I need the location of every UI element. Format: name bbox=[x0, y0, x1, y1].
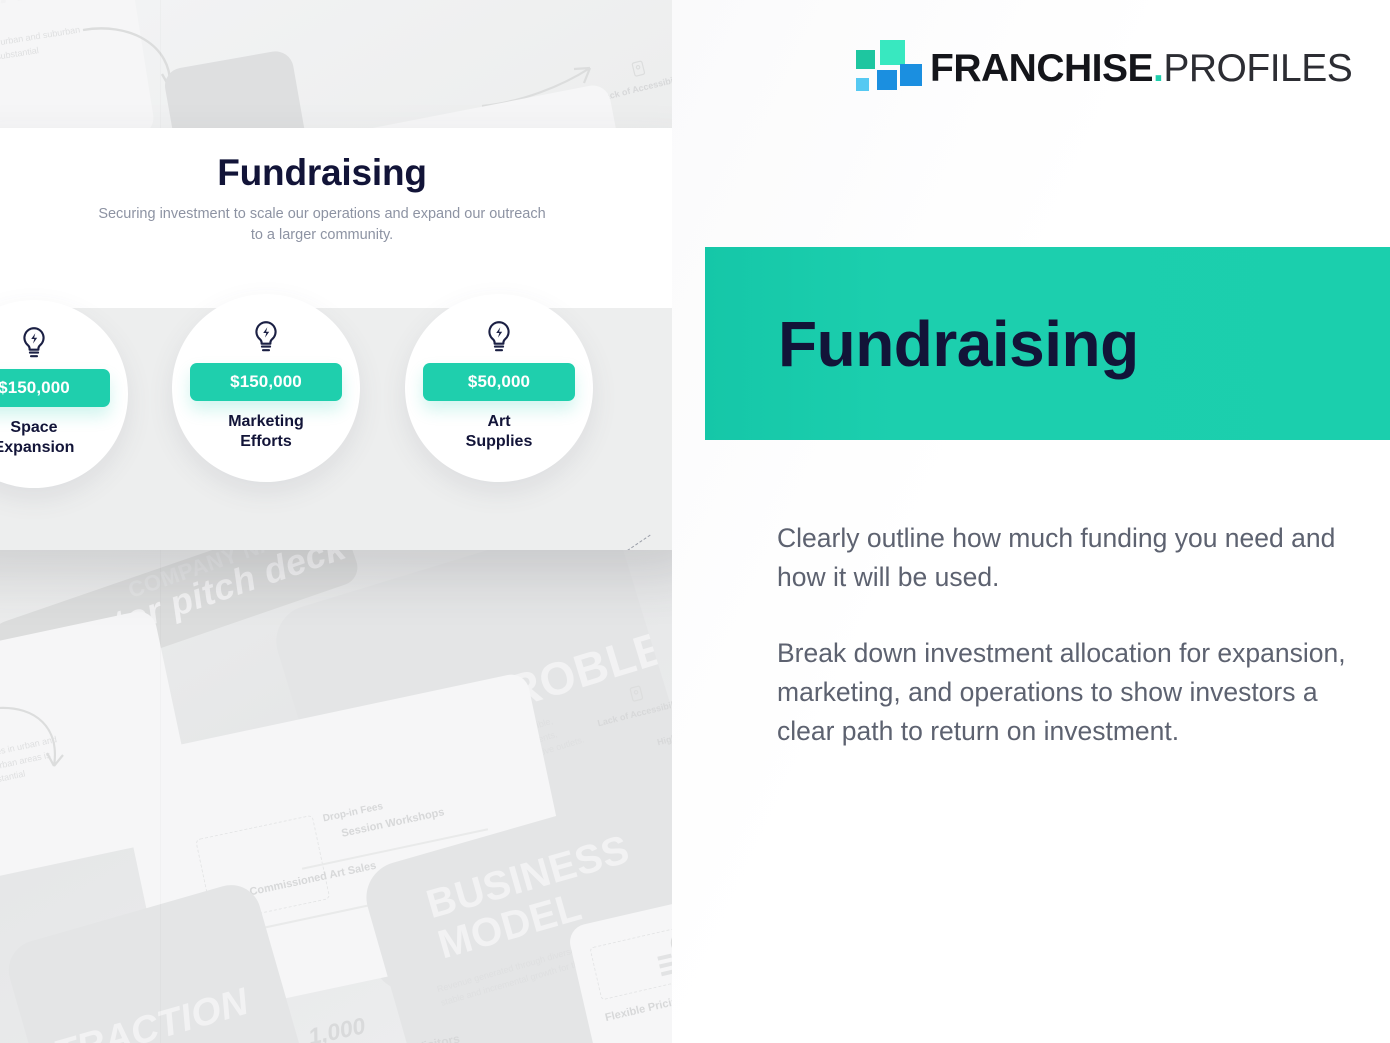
funding-nodes-group: $150,000 Space Expansion $150,000 Market… bbox=[0, 286, 672, 526]
deck-market-title: MARKET bbox=[0, 0, 116, 16]
funding-node-label: Space Expansion bbox=[0, 418, 74, 459]
lightbulb-icon bbox=[484, 320, 514, 354]
lightbulb-icon bbox=[19, 326, 49, 360]
logo-word-franchise: FRANCHISE bbox=[930, 47, 1153, 90]
funding-node-art-supplies[interactable]: $50,000 Art Supplies bbox=[405, 294, 593, 482]
funding-node-label-line1: Art bbox=[487, 413, 510, 430]
slide-card-subtitle: Securing investment to scale our operati… bbox=[97, 204, 547, 246]
right-content-panel: FRANCHISE.PROFILES Fundraising Clearly o… bbox=[672, 0, 1390, 1043]
funding-node-label-line2: Expansion bbox=[0, 439, 74, 456]
funding-amount-badge: $150,000 bbox=[0, 369, 110, 407]
funding-node-label: Marketing Efforts bbox=[228, 412, 304, 453]
logo-square-blue-2 bbox=[900, 64, 922, 86]
funding-node-label-line2: Supplies bbox=[466, 433, 533, 450]
deck-arrow-icon-3 bbox=[0, 700, 74, 780]
logo-wordmark: FRANCHISE.PROFILES bbox=[930, 47, 1352, 91]
funding-node-space-expansion[interactable]: $150,000 Space Expansion bbox=[0, 300, 128, 488]
section-title: Fundraising bbox=[778, 307, 1139, 381]
funding-amount-badge: $150,000 bbox=[190, 363, 342, 401]
section-description: Clearly outline how much funding you nee… bbox=[777, 519, 1357, 751]
left-visual-panel: MARKET spaces in urban and suburban area… bbox=[0, 0, 672, 1043]
description-paragraph-1: Clearly outline how much funding you nee… bbox=[777, 519, 1357, 597]
deck-traction-title: TRACTION bbox=[49, 981, 253, 1043]
logo-square-teal bbox=[856, 50, 875, 69]
funding-node-label-line1: Space bbox=[10, 419, 57, 436]
logo-dot: . bbox=[1153, 47, 1163, 90]
logo-word-profiles: PROFILES bbox=[1163, 47, 1352, 90]
fundraising-slide-card: Fundraising Securing investment to scale… bbox=[0, 128, 672, 550]
funding-node-label-line2: Efforts bbox=[240, 433, 292, 450]
slide-card-title: Fundraising bbox=[0, 152, 644, 194]
logo-square-mint bbox=[880, 40, 905, 65]
description-paragraph-2: Break down investment allocation for exp… bbox=[777, 634, 1357, 751]
brand-logo: FRANCHISE.PROFILES bbox=[850, 40, 1352, 98]
section-banner: Fundraising bbox=[705, 247, 1390, 440]
deck-monthly-visitors-value: 1,000 bbox=[306, 1012, 368, 1043]
slide-card-header: Fundraising Securing investment to scale… bbox=[0, 128, 672, 246]
funding-amount-badge: $50,000 bbox=[423, 363, 575, 401]
funding-node-marketing-efforts[interactable]: $150,000 Marketing Efforts bbox=[172, 294, 360, 482]
funding-node-label: Art Supplies bbox=[466, 412, 533, 453]
logo-squares-icon bbox=[850, 40, 908, 98]
funding-node-label-line1: Marketing bbox=[228, 413, 304, 430]
logo-square-cyan bbox=[856, 78, 869, 91]
logo-square-blue bbox=[877, 70, 897, 90]
lightbulb-icon bbox=[251, 320, 281, 354]
